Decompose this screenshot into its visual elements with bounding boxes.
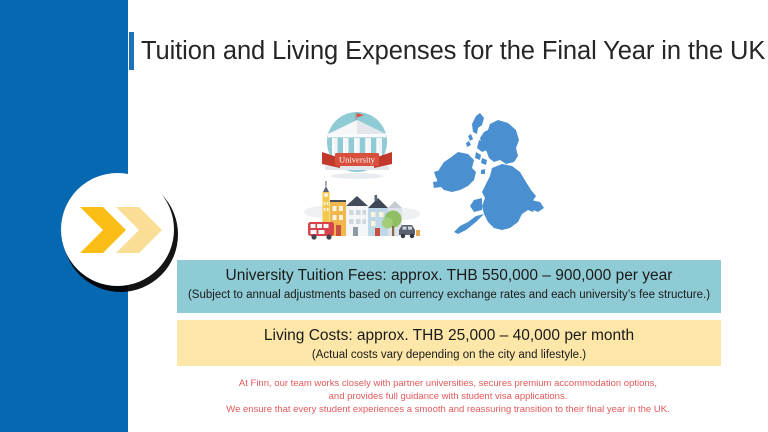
university-emblem-illustration: University [310,108,404,180]
page-title: Tuition and Living Expenses for the Fina… [141,33,761,69]
tuition-fees-subtext: (Subject to annual adjustments based on … [177,287,721,303]
double-chevron-badge [61,173,174,286]
double-chevron-icon [80,207,162,253]
footer-line-3: We ensure that every student experiences… [128,403,768,416]
university-banner-label: University [339,155,376,165]
tuition-fees-box: University Tuition Fees: approx. THB 550… [177,260,721,313]
living-costs-box: Living Costs: approx. THB 25,000 – 40,00… [177,320,721,366]
london-cityscape-illustration [302,178,420,248]
living-costs-subtext: (Actual costs vary depending on the city… [177,347,721,363]
footer-line-1: At Finn, our team works closely with par… [128,377,768,390]
footer-note: At Finn, our team works closely with par… [128,377,768,417]
footer-line-2: and provides full guidance with student … [128,390,768,403]
uk-map-illustration [432,110,584,260]
title-accent-bar [129,32,134,70]
tuition-fees-heading: University Tuition Fees: approx. THB 550… [177,265,721,287]
living-costs-heading: Living Costs: approx. THB 25,000 – 40,00… [177,325,721,347]
slide-canvas: Tuition and Living Expenses for the Fina… [0,0,768,432]
